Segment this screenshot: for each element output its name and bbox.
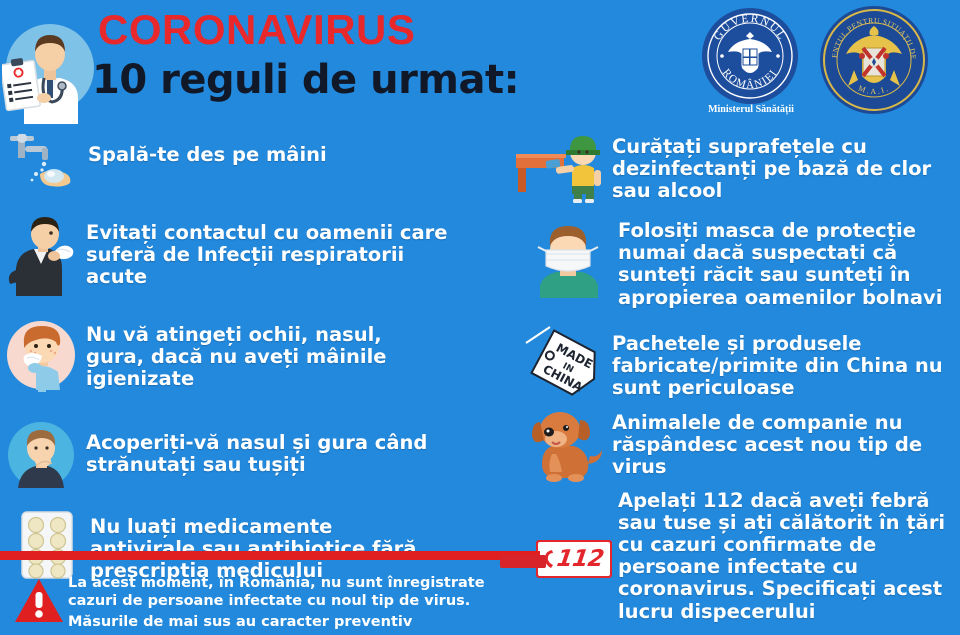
badge-112-number: 112	[555, 546, 605, 572]
emergency-112-badge-icon: 112	[536, 540, 612, 578]
rule-item-4: Acoperiți-vă nasul și gura când strănuta…	[0, 418, 500, 492]
rule-item-3: Nu vă atingeți ochii, nasul, gura, dacă …	[0, 318, 500, 392]
footer-disclaimer: La acest moment, în România, nu sunt înr…	[68, 575, 538, 632]
rule-text-8: Pachetele și produsele fabricate/primite…	[612, 333, 943, 400]
page-subtitle-rules: 10 reguli de urmat:	[92, 57, 519, 103]
man-coughing-tissue-icon	[2, 212, 80, 296]
rule-text-10: Apelați 112 dacă aveți febră sau tuse și…	[618, 490, 945, 623]
rule-text-6: Curățați suprafețele cu dezinfectanți pe…	[612, 136, 931, 203]
rules-column-right: Curățați suprafețele cu dezinfectanți pe…	[508, 128, 960, 577]
coronavirus-infographic: CORONAVIRUS 10 reguli de urmat: GUVERNUL	[0, 0, 960, 635]
rule-item-5: Nu luați medicamente antivirale sau anti…	[0, 510, 500, 583]
rule-item-6: Curățați suprafețele cu dezinfectanți pe…	[508, 130, 960, 204]
footer-red-divider	[0, 551, 540, 560]
page-title-coronavirus: CORONAVIRUS	[98, 6, 415, 54]
puppy-dog-icon	[522, 406, 608, 484]
warning-triangle-icon	[14, 578, 64, 624]
footer-line-2: cazuri de persoane infectate cu noul tip…	[68, 593, 538, 611]
footer-line-3: Măsurile de mai sus au caracter preventi…	[68, 614, 538, 632]
made-in-china-tag-icon: MADE IN CHINA	[520, 325, 610, 399]
footer-red-accent	[500, 555, 546, 568]
rule-text-3: Nu vă atingeți ochii, nasul, gura, dacă …	[86, 324, 387, 391]
boy-cleaning-table-icon	[516, 130, 608, 204]
rule-text-7: Folosiți masca de protecție numai dacă s…	[618, 220, 942, 309]
guvernul-romaniei-logo-icon: GUVERNUL ROMÂNIEI	[700, 6, 800, 106]
boy-sneezing-tissue-icon	[2, 318, 80, 392]
rule-text-2: Evitați contactul cu oamenii care suferă…	[86, 222, 447, 289]
poster-header: CORONAVIRUS 10 reguli de urmat: GUVERNUL	[0, 0, 960, 125]
departamentul-situatii-urgenta-logo-icon: DEPARTAMENTUL PENTRU SITUAȚII DE URGENȚĂ…	[818, 4, 930, 116]
person-wearing-mask-icon	[530, 220, 608, 298]
man-covering-mouth-icon	[2, 418, 80, 492]
badge-112-inner: 112	[538, 542, 610, 576]
ministerul-sanatatii-label: Ministerul Sănătății	[695, 104, 807, 115]
rule-text-1: Spală-te des pe mâini	[88, 144, 327, 166]
rule-text-9: Animalele de companie nu răspândesc aces…	[612, 412, 922, 479]
rule-item-1: Spală-te des pe mâini	[0, 134, 500, 190]
footer-line-1: La acest moment, în România, nu sunt înr…	[68, 575, 538, 593]
rules-column-left: Spală-te des pe mâini	[0, 128, 500, 489]
pill-blister-pack-icon	[16, 510, 78, 580]
rule-item-8: MADE IN CHINA Pachetele și produsele fab…	[508, 325, 960, 400]
government-logos: GUVERNUL ROMÂNIEI	[700, 4, 950, 122]
rule-item-2: Evitați contactul cu oamenii care suferă…	[0, 212, 500, 296]
rule-text-4: Acoperiți-vă nasul și gura când strănuta…	[86, 432, 427, 476]
doctor-with-clipboard-icon	[2, 12, 98, 124]
rule-item-7: Folosiți masca de protecție numai dacă s…	[508, 220, 960, 309]
rule-text-5: Nu luați medicamente antivirale sau anti…	[90, 516, 416, 583]
faucet-handwashing-icon	[6, 134, 78, 190]
rule-item-9: Animalele de companie nu răspândesc aces…	[508, 406, 960, 484]
